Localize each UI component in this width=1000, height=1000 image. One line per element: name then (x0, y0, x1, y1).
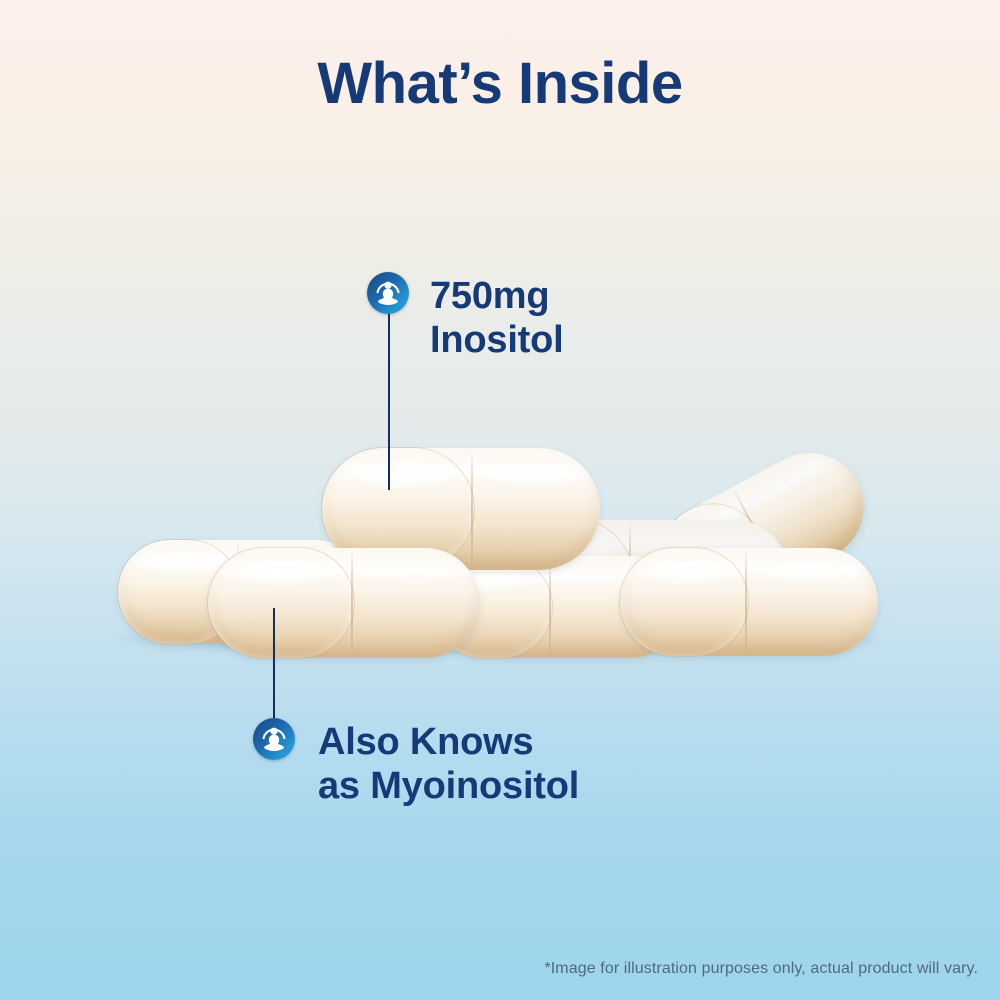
illustration-disclaimer: *Image for illustration purposes only, a… (544, 960, 978, 978)
capsule-ring-mark (404, 567, 430, 584)
capsule-highlight (648, 561, 738, 586)
capsule-seam (745, 548, 747, 656)
capsule-ring-mark (666, 566, 691, 583)
leader-line-alternate-name (273, 608, 275, 724)
capsule-seam (351, 548, 353, 658)
leader-line-inositol-dose (388, 312, 390, 490)
capsule-ring-mark (378, 469, 405, 487)
capsule-pile-image (0, 0, 1000, 1000)
whats-inside-infographic: What’s Inside (0, 0, 1000, 1000)
capsule-seam (549, 556, 551, 658)
capsule-front-left-center (208, 548, 480, 658)
capsule-ring-mark (550, 468, 575, 485)
capsule-ring-mark (832, 566, 857, 583)
meditating-person-icon (253, 718, 295, 760)
callout-label-alternate-name: Also Knows as Myoinositol (318, 720, 579, 808)
capsule-highlight (356, 462, 460, 490)
meditating-person-icon (367, 272, 409, 314)
capsule-seam (471, 448, 473, 570)
capsule-highlight (238, 561, 336, 587)
callout-label-inositol-dose: 750mg Inositol (430, 274, 564, 362)
capsule-ring-mark (160, 557, 185, 574)
capsule-front-right (620, 548, 878, 656)
